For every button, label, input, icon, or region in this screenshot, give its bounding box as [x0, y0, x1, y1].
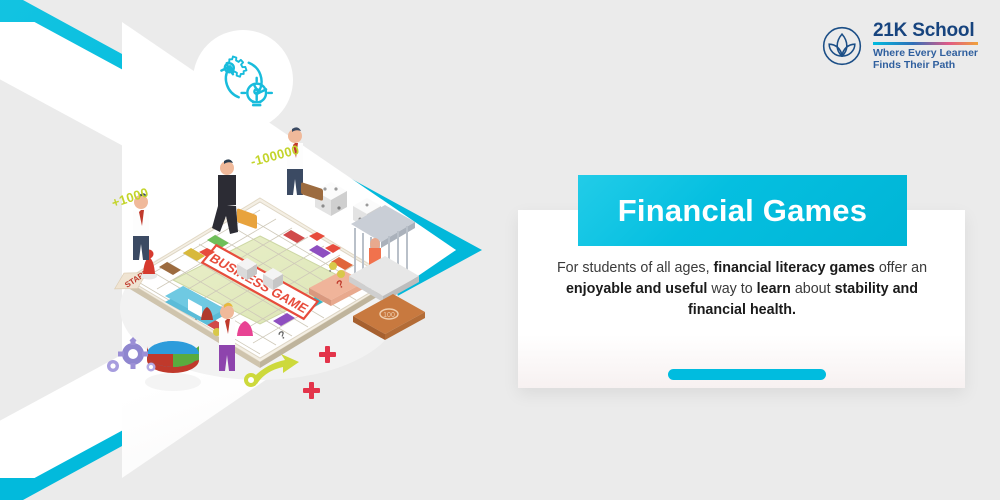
- player-figure: [212, 159, 257, 234]
- logo-name: 21K School: [873, 20, 978, 41]
- gear-refresh-lightbulb-icon: [193, 30, 293, 130]
- body-copy: For students of all ages, financial lite…: [538, 258, 946, 321]
- logo-tagline-line1: Where Every Learner: [873, 47, 978, 59]
- logo-tagline-line2: Finds Their Path: [873, 59, 978, 71]
- body-copy-emphasis: learn: [757, 281, 791, 297]
- player-figure: [287, 127, 323, 201]
- accent-pill: [668, 369, 826, 380]
- body-copy-text: For students of all ages,: [557, 260, 714, 276]
- body-copy-text: about: [791, 281, 835, 297]
- brand-logo[interactable]: 21K School Where Every Learner Finds The…: [820, 20, 978, 71]
- svg-text:100: 100: [383, 312, 395, 319]
- title-banner: Financial Games: [578, 175, 907, 246]
- logo-gradient-rule: [873, 42, 978, 45]
- isometric-business-board-game: START BUSINESS GAME ? ? ? ?: [95, 140, 425, 410]
- hexagon-graphic-stage: START BUSINESS GAME ? ? ? ?: [0, 0, 500, 500]
- logo-text-block: 21K School Where Every Learner Finds The…: [873, 20, 978, 71]
- lotus-circle-icon: [820, 24, 864, 68]
- body-copy-text: way to: [707, 281, 756, 297]
- body-copy-emphasis: financial literacy games: [714, 260, 875, 276]
- body-copy-emphasis: enjoyable and useful: [566, 281, 707, 297]
- page-title: Financial Games: [618, 193, 867, 229]
- jail-cage: [349, 205, 419, 302]
- body-copy-text: offer an: [875, 260, 927, 276]
